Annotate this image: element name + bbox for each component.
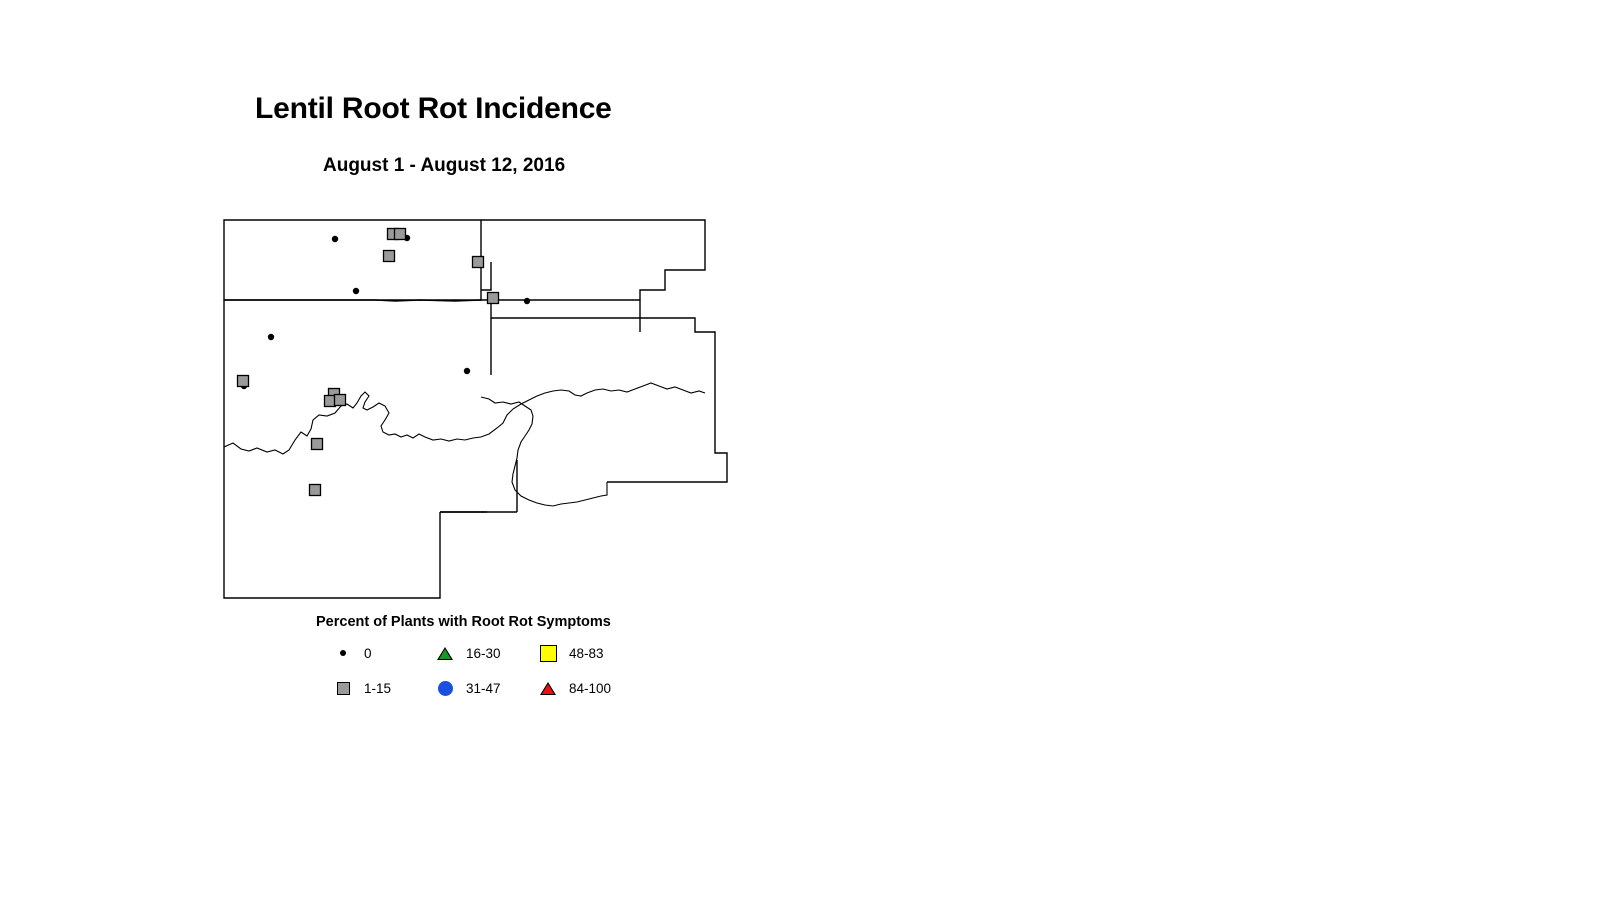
map-point[interactable] (464, 368, 470, 374)
legend-row-1: 0 16-30 48-83 (330, 640, 660, 675)
map-point[interactable] (238, 376, 249, 387)
data-points-layer[interactable] (238, 229, 531, 496)
county-outline-northwest (224, 220, 481, 300)
legend-label-84-100: 84-100 (569, 681, 611, 696)
legend-label-48-83: 48-83 (569, 646, 604, 661)
legend-label-16-30: 16-30 (466, 646, 501, 661)
river-boundary-lower (481, 397, 607, 506)
river-boundary-upper (224, 383, 705, 454)
map-point[interactable] (353, 288, 359, 294)
map-point[interactable] (310, 485, 321, 496)
map-point[interactable] (332, 236, 338, 242)
map-point[interactable] (312, 439, 323, 450)
legend-entry-1-15[interactable]: 1-15 (330, 675, 391, 701)
red-triangle-icon (535, 682, 561, 695)
green-triangle-icon (432, 647, 458, 660)
legend-label-31-47: 31-47 (466, 681, 501, 696)
map-boundaries (215, 210, 755, 610)
county-outline-east (491, 318, 727, 482)
county-outline-northeast (481, 220, 705, 300)
legend: 0 16-30 48-83 1-15 31-47 84-100 (330, 640, 660, 710)
state-line-horizontal (224, 300, 481, 301)
map-figure: Lentil Root Rot Incidence August 1 - Aug… (0, 0, 1612, 900)
map-point[interactable] (395, 229, 406, 240)
legend-row-2: 1-15 31-47 84-100 (330, 675, 660, 710)
map-point[interactable] (335, 395, 346, 406)
dot-icon (330, 650, 356, 656)
map-point[interactable] (524, 298, 530, 304)
legend-label-0: 0 (364, 646, 372, 661)
page-title: Lentil Root Rot Incidence (255, 92, 612, 126)
map-point[interactable] (473, 257, 484, 268)
blue-circle-icon (432, 681, 458, 696)
map-canvas[interactable] (215, 210, 755, 610)
legend-entry-0[interactable]: 0 (330, 640, 372, 666)
legend-title: Percent of Plants with Root Rot Symptoms (316, 614, 611, 630)
legend-entry-48-83[interactable]: 48-83 (535, 640, 604, 666)
map-point[interactable] (384, 251, 395, 262)
gray-square-icon (330, 682, 356, 695)
county-outline-southwest (224, 300, 440, 598)
map-point[interactable] (268, 334, 274, 340)
legend-entry-31-47[interactable]: 31-47 (432, 675, 501, 701)
map-point[interactable] (488, 293, 499, 304)
date-range-subtitle: August 1 - August 12, 2016 (323, 155, 565, 177)
legend-label-1-15: 1-15 (364, 681, 391, 696)
yellow-square-icon (535, 645, 561, 662)
legend-entry-84-100[interactable]: 84-100 (535, 675, 611, 701)
legend-entry-16-30[interactable]: 16-30 (432, 640, 501, 666)
